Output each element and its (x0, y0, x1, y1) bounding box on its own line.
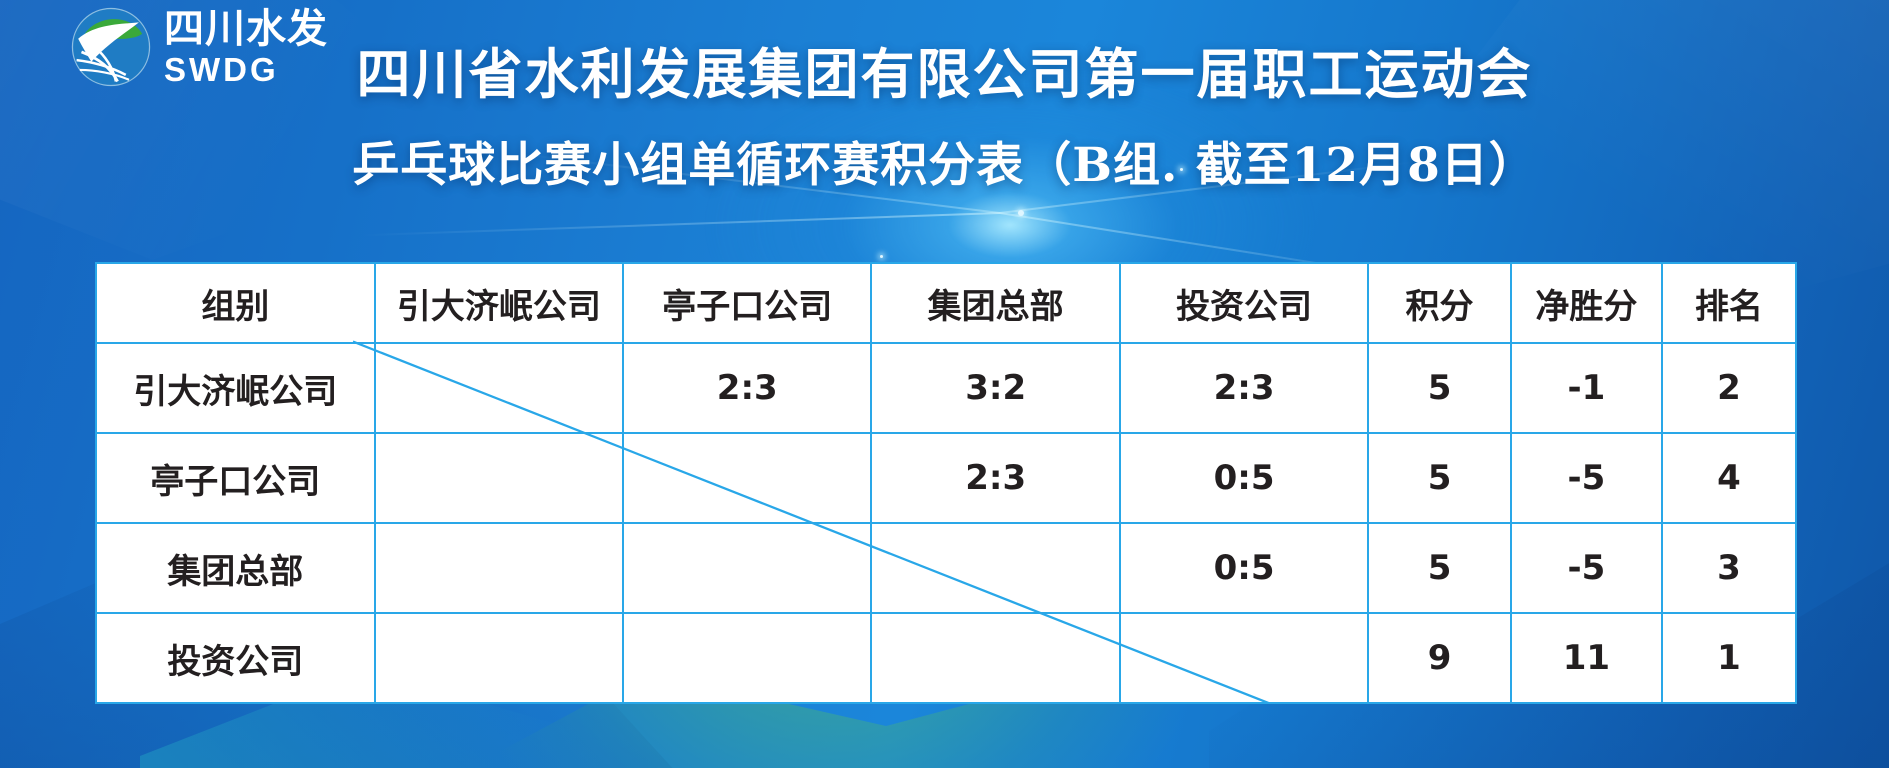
cell-rank: 3 (1662, 523, 1796, 613)
cell-vs-team-3: 3:2 (871, 343, 1119, 433)
cell-vs-team-2 (623, 613, 871, 703)
cell-rank: 4 (1662, 433, 1796, 523)
col-header-rank: 排名 (1662, 263, 1796, 343)
cell-vs-team-4: 0:5 (1120, 523, 1368, 613)
bg-light-ray (360, 212, 1000, 236)
cell-vs-team-4 (1120, 613, 1368, 703)
score-table-container: 组别 引大济岷公司 亭子口公司 集团总部 投资公司 积分 净胜分 排名 引大济岷… (95, 262, 1797, 704)
cell-rank: 2 (1662, 343, 1796, 433)
cell-points: 5 (1368, 433, 1511, 523)
col-header-team-1: 引大济岷公司 (375, 263, 623, 343)
col-header-group: 组别 (96, 263, 375, 343)
cell-vs-team-2: 2:3 (623, 343, 871, 433)
col-header-team-4: 投资公司 (1120, 263, 1368, 343)
cell-vs-team-1 (375, 523, 623, 613)
cell-vs-team-4: 0:5 (1120, 433, 1368, 523)
table-row: 集团总部 0:5 5 -5 3 (96, 523, 1796, 613)
cell-vs-team-4: 2:3 (1120, 343, 1368, 433)
col-header-goal-diff: 净胜分 (1511, 263, 1662, 343)
cell-vs-team-3: 2:3 (871, 433, 1119, 523)
cell-vs-team-2 (623, 433, 871, 523)
cell-points: 9 (1368, 613, 1511, 703)
cell-vs-team-2 (623, 523, 871, 613)
table-row: 投资公司 9 11 1 (96, 613, 1796, 703)
col-header-points: 积分 (1368, 263, 1511, 343)
cell-vs-team-3 (871, 523, 1119, 613)
poster-root: 四川水发 SWDG 四川省水利发展集团有限公司第一届职工运动会 乒乓球比赛小组单… (0, 0, 1889, 768)
cell-vs-team-1 (375, 613, 623, 703)
cell-goal-diff: 11 (1511, 613, 1662, 703)
row-team-name: 亭子口公司 (96, 433, 375, 523)
cell-rank: 1 (1662, 613, 1796, 703)
page-title: 四川省水利发展集团有限公司第一届职工运动会 (0, 44, 1889, 106)
row-team-name: 引大济岷公司 (96, 343, 375, 433)
col-header-team-3: 集团总部 (871, 263, 1119, 343)
score-table: 组别 引大济岷公司 亭子口公司 集团总部 投资公司 积分 净胜分 排名 引大济岷… (95, 262, 1797, 704)
cell-goal-diff: -1 (1511, 343, 1662, 433)
row-team-name: 投资公司 (96, 613, 375, 703)
page-subtitle: 乒乓球比赛小组单循环赛积分表（B组. 截至12月8日） (0, 126, 1889, 195)
bg-sparkle (1018, 210, 1024, 216)
cell-goal-diff: -5 (1511, 523, 1662, 613)
brand-name-cn: 四川水发 (164, 9, 328, 49)
cell-goal-diff: -5 (1511, 433, 1662, 523)
title-block: 四川省水利发展集团有限公司第一届职工运动会 乒乓球比赛小组单循环赛积分表（B组.… (0, 44, 1889, 195)
table-row: 引大济岷公司 2:3 3:2 2:3 5 -1 2 (96, 343, 1796, 433)
cell-points: 5 (1368, 343, 1511, 433)
cell-vs-team-1 (375, 433, 623, 523)
cell-vs-team-3 (871, 613, 1119, 703)
col-header-team-2: 亭子口公司 (623, 263, 871, 343)
table-header-row: 组别 引大济岷公司 亭子口公司 集团总部 投资公司 积分 净胜分 排名 (96, 263, 1796, 343)
row-team-name: 集团总部 (96, 523, 375, 613)
cell-points: 5 (1368, 523, 1511, 613)
bg-sparkle (880, 255, 883, 258)
table-row: 亭子口公司 2:3 0:5 5 -5 4 (96, 433, 1796, 523)
cell-vs-team-1 (375, 343, 623, 433)
